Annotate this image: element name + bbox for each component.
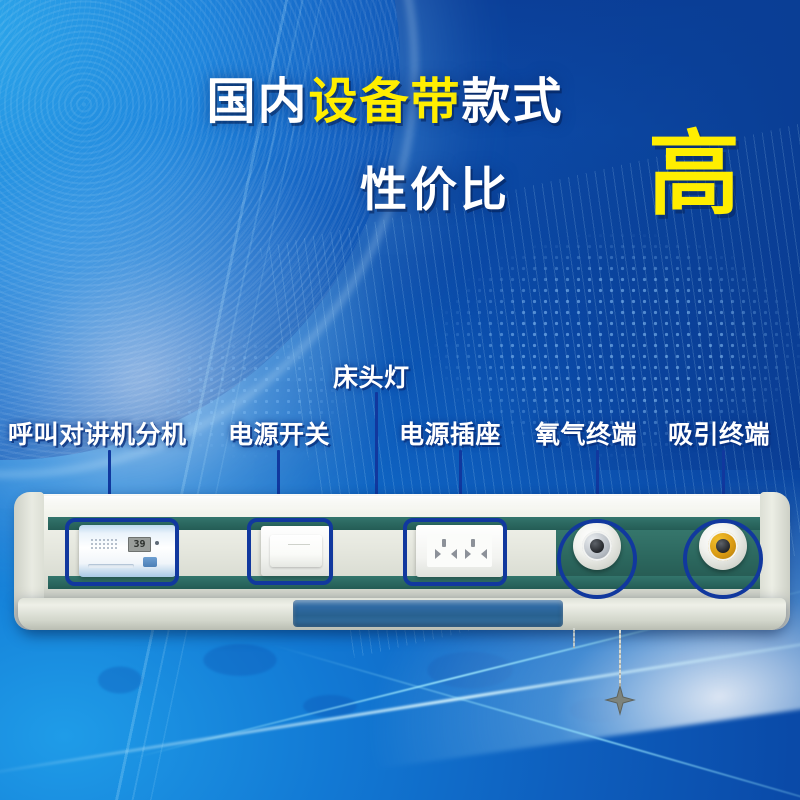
pull-cord-weight-icon bbox=[604, 684, 636, 716]
panel-top-highlight bbox=[20, 496, 784, 512]
bed-lamp[interactable] bbox=[293, 600, 563, 627]
headline-line1-part1: 国内 bbox=[206, 75, 308, 129]
headline-line-2: 性价比 bbox=[360, 151, 510, 220]
headline-line1-part3: 款式 bbox=[462, 75, 564, 129]
callout-label-oxygen: 氧气终端 bbox=[535, 415, 637, 451]
pull-cord[interactable] bbox=[619, 630, 621, 692]
headline-line1-accent: 设备带 bbox=[308, 75, 461, 129]
highlight-power-socket bbox=[403, 518, 507, 586]
highlight-intercom bbox=[65, 518, 179, 586]
pull-cord-short bbox=[573, 628, 575, 648]
banner-canvas: 国内设备带款式 性价比 高 呼叫对讲机分机 电源开关 床头灯 电源插座 氧气终端… bbox=[0, 0, 800, 800]
highlight-oxygen bbox=[557, 519, 637, 599]
headline-block: 国内设备带款式 性价比 高 bbox=[0, 78, 800, 239]
headline-line-1: 国内设备带款式 bbox=[0, 78, 770, 127]
highlight-power-switch bbox=[247, 518, 333, 585]
callout-label-power-socket: 电源插座 bbox=[399, 415, 501, 451]
headline-line-2-accent: 高 bbox=[648, 129, 740, 221]
callout-label-power-switch: 电源开关 bbox=[228, 415, 330, 451]
callout-label-intercom: 呼叫对讲机分机 bbox=[8, 415, 187, 451]
callout-label-bed-lamp: 床头灯 bbox=[333, 358, 410, 394]
headline-line-2-row: 性价比 高 bbox=[0, 143, 800, 239]
callout-label-suction: 吸引终端 bbox=[668, 415, 770, 451]
highlight-suction bbox=[683, 519, 763, 599]
